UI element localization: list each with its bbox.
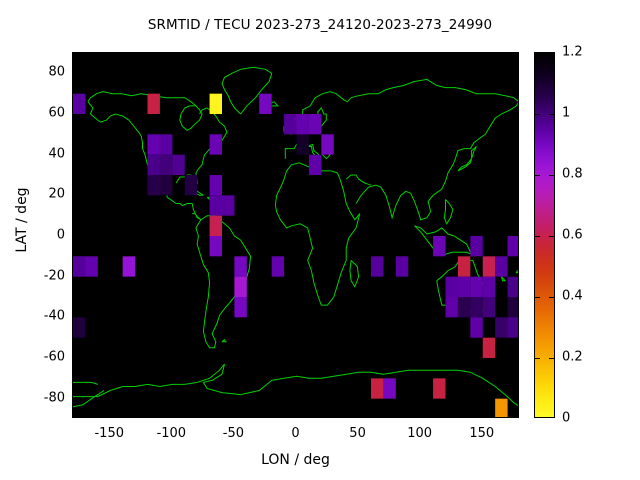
heatmap-cell[interactable] [73,317,85,337]
heatmap-cell[interactable] [73,94,85,114]
heatmap-cell[interactable] [495,317,507,337]
heatmap-cell[interactable] [210,175,222,195]
heatmap-cell[interactable] [458,277,470,297]
heatmap-cell[interactable] [495,399,507,418]
heatmap-cell[interactable] [396,256,408,276]
colorbar-tick-mark [549,358,554,359]
x-tick-label: 50 [349,426,366,441]
x-tick-label: 100 [407,426,432,441]
heatmap-cell[interactable] [210,134,222,154]
heatmap-cell[interactable] [371,256,383,276]
heatmap-cell[interactable] [458,256,470,276]
heatmap-cell[interactable] [85,256,97,276]
heatmap-cell[interactable] [284,114,296,134]
heatmap-cell[interactable] [73,256,85,276]
heatmap-cell[interactable] [210,236,222,256]
heatmap-cell[interactable] [148,175,160,195]
colorbar-tick-label: 0.6 [562,228,583,243]
heatmap-cell[interactable] [433,378,445,398]
heatmap-cell[interactable] [148,155,160,175]
heatmap-cell[interactable] [160,175,172,195]
y-tick-label: 60 [20,106,65,121]
heatmap-cell[interactable] [160,155,172,175]
heatmap-cell[interactable] [259,94,271,114]
colorbar-tick-label: 0.2 [562,350,583,365]
heatmap-cell[interactable] [210,216,222,236]
heatmap-cell[interactable] [309,114,321,134]
colorbar-gradient [535,53,554,417]
y-tick-label: -60 [20,350,65,365]
heatmap-cell[interactable] [495,256,507,276]
heatmap-cell[interactable] [483,277,495,297]
heatmap-cell[interactable] [234,297,246,317]
y-tick-label: 80 [20,65,65,80]
heatmap-cell[interactable] [309,155,321,175]
heatmap-cell[interactable] [470,297,482,317]
heatmap-cell[interactable] [508,277,519,297]
heatmap-cell[interactable] [222,195,234,215]
heatmap-cell[interactable] [210,94,222,114]
heatmap-cell[interactable] [148,134,160,154]
heatmap-cell[interactable] [470,277,482,297]
heatmap-cell[interactable] [508,317,519,337]
heatmap-cell[interactable] [123,256,135,276]
heatmap-cell[interactable] [321,134,333,154]
heatmap-cells-layer[interactable] [73,53,519,418]
colorbar-tick-mark [535,236,540,237]
heatmap-cell[interactable] [383,378,395,398]
chart-title: SRMTID / TECU 2023-273_24120-2023-273_24… [0,17,640,33]
colorbar-tick-label: 0 [562,411,570,426]
colorbar-tick-mark [535,358,540,359]
y-tick-label: 40 [20,146,65,161]
heatmap-cell[interactable] [483,297,495,317]
colorbar[interactable] [534,52,555,418]
x-tick-label: -50 [223,426,244,441]
heatmap-cell[interactable] [234,277,246,297]
heatmap-cell[interactable] [272,256,284,276]
heatmap-cell[interactable] [446,277,458,297]
y-tick-label: -40 [20,309,65,324]
heatmap-cell[interactable] [297,134,309,154]
y-axis-label: LAT / deg [14,160,30,280]
heatmap-cell[interactable] [371,378,383,398]
figure-canvas: SRMTID / TECU 2023-273_24120-2023-273_24… [0,0,640,480]
heatmap-cell[interactable] [508,236,519,256]
colorbar-tick-label: 1.2 [562,45,583,60]
colorbar-tick-label: 0.4 [562,289,583,304]
colorbar-tick-mark [549,114,554,115]
x-tick-label: 150 [469,426,494,441]
colorbar-tick-label: 1 [562,106,570,121]
colorbar-tick-mark [535,114,540,115]
heatmap-cell[interactable] [433,236,445,256]
x-tick-label: -150 [94,426,124,441]
heatmap-cell[interactable] [172,155,184,175]
x-axis-label: LON / deg [0,452,591,468]
heatmap-cell[interactable] [160,134,172,154]
heatmap-cell[interactable] [210,195,222,215]
heatmap-cell[interactable] [234,256,246,276]
heatmap-cell[interactable] [297,114,309,134]
heatmap-cell[interactable] [470,236,482,256]
heatmap-cell[interactable] [458,297,470,317]
heatmap-cell[interactable] [470,317,482,337]
y-tick-label: -80 [20,390,65,405]
heatmap-cell[interactable] [483,338,495,358]
plot-area[interactable] [72,52,519,418]
x-tick-label: -100 [157,426,187,441]
colorbar-tick-label: 0.8 [562,167,583,182]
colorbar-tick-mark [549,236,554,237]
x-tick-label: 0 [291,426,299,441]
colorbar-tick-mark [549,297,554,298]
heatmap-cell[interactable] [446,297,458,317]
colorbar-tick-mark [535,175,540,176]
heatmap-cell[interactable] [483,256,495,276]
heatmap-cell[interactable] [148,94,160,114]
colorbar-tick-mark [535,297,540,298]
heatmap-cell[interactable] [185,175,197,195]
heatmap-cell[interactable] [508,297,519,317]
colorbar-tick-mark [549,175,554,176]
